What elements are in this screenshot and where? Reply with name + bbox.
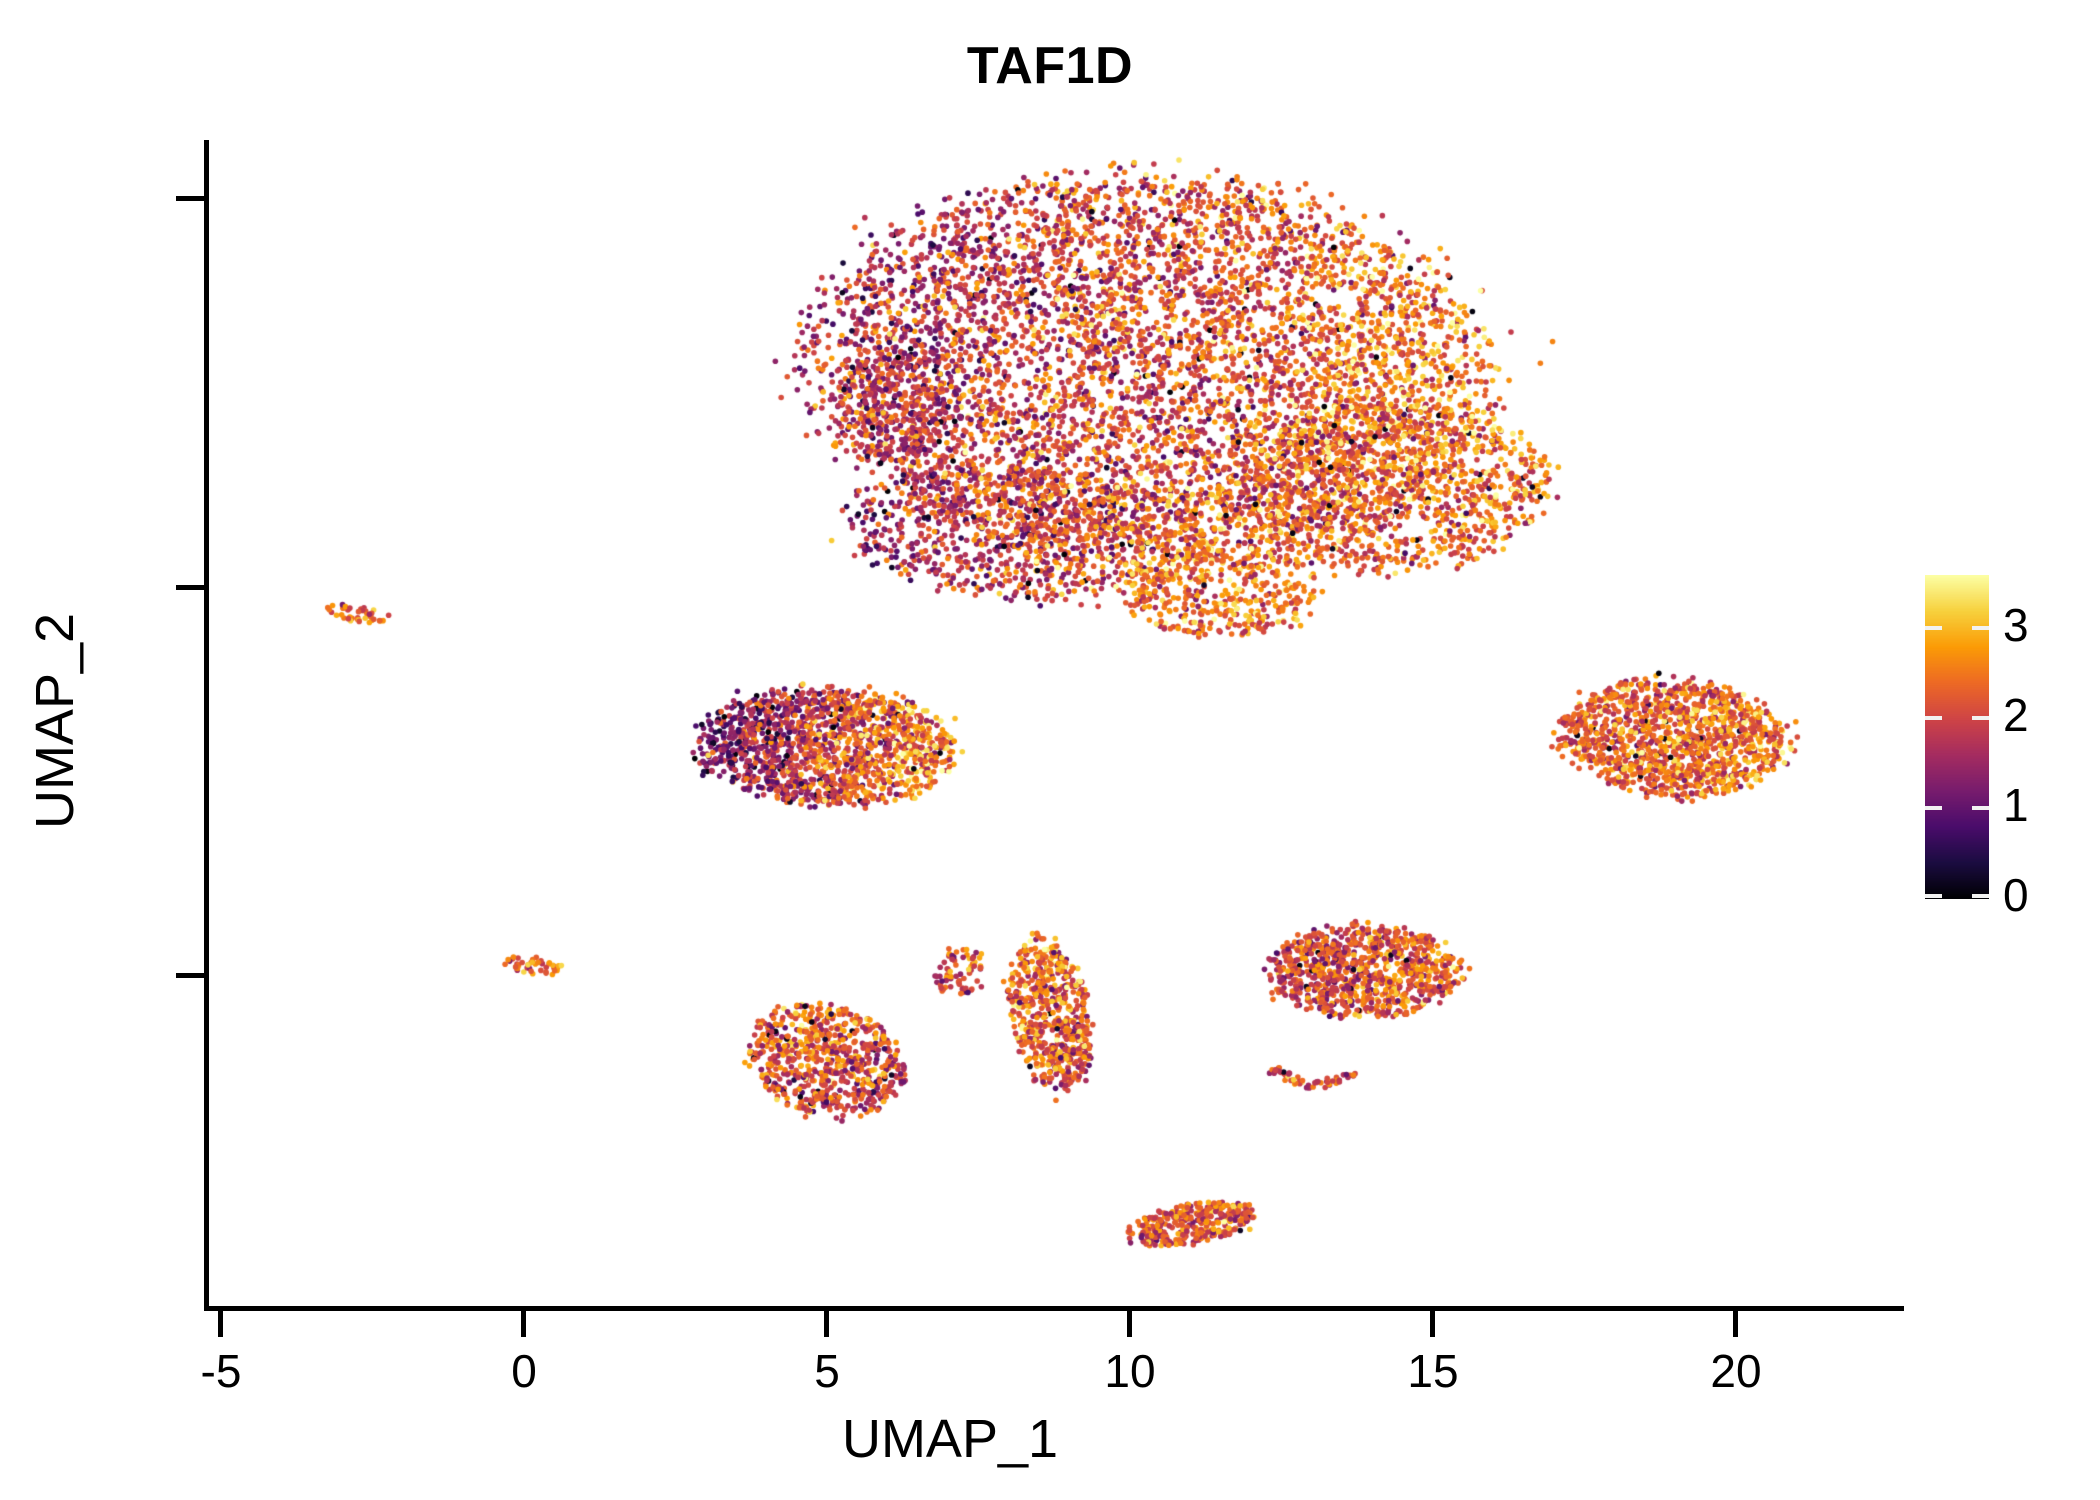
colorbar-gradient <box>1925 575 1989 899</box>
y-tick-mark-0 <box>176 973 204 978</box>
colorbar-tick-2 <box>1925 716 1989 720</box>
x-tick-label-20: 20 <box>1636 1348 1836 1394</box>
y-tick-mark-20 <box>176 196 204 201</box>
x-tick-label-10: 10 <box>1030 1348 1230 1394</box>
x-tick-mark-15 <box>1430 1311 1435 1337</box>
colorbar-label-3: 3 <box>2003 602 2093 648</box>
colorbar-legend: 3 2 1 0 <box>1925 575 2095 905</box>
colorbar-label-0: 0 <box>2003 872 2093 918</box>
colorbar-tick-0 <box>1925 894 1989 898</box>
x-tick-mark-neg5 <box>218 1311 223 1337</box>
y-axis-line <box>204 140 209 1310</box>
x-tick-mark-20 <box>1733 1311 1738 1337</box>
x-tick-label-15: 15 <box>1333 1348 1533 1394</box>
x-tick-mark-10 <box>1127 1311 1132 1337</box>
x-axis-label: UMAP_1 <box>0 1408 1900 1470</box>
x-axis-line <box>204 1306 1904 1311</box>
colorbar-label-2: 2 <box>2003 692 2093 738</box>
y-axis-label: UMAP_2 <box>24 401 86 1041</box>
x-tick-label-0: 0 <box>424 1348 624 1394</box>
x-tick-mark-0 <box>521 1311 526 1337</box>
umap-feature-plot: TAF1D 20 10 0 -5 0 5 10 15 20 UMAP_1 UMA… <box>0 0 2100 1500</box>
y-tick-mark-10 <box>176 585 204 590</box>
x-tick-label-5: 5 <box>727 1348 927 1394</box>
colorbar-tick-3 <box>1925 626 1989 630</box>
colorbar-label-1: 1 <box>2003 782 2093 828</box>
colorbar-tick-1 <box>1925 806 1989 810</box>
x-tick-label-neg5: -5 <box>121 1348 321 1394</box>
scatter-plot-canvas <box>0 0 2100 1500</box>
x-tick-mark-5 <box>824 1311 829 1337</box>
